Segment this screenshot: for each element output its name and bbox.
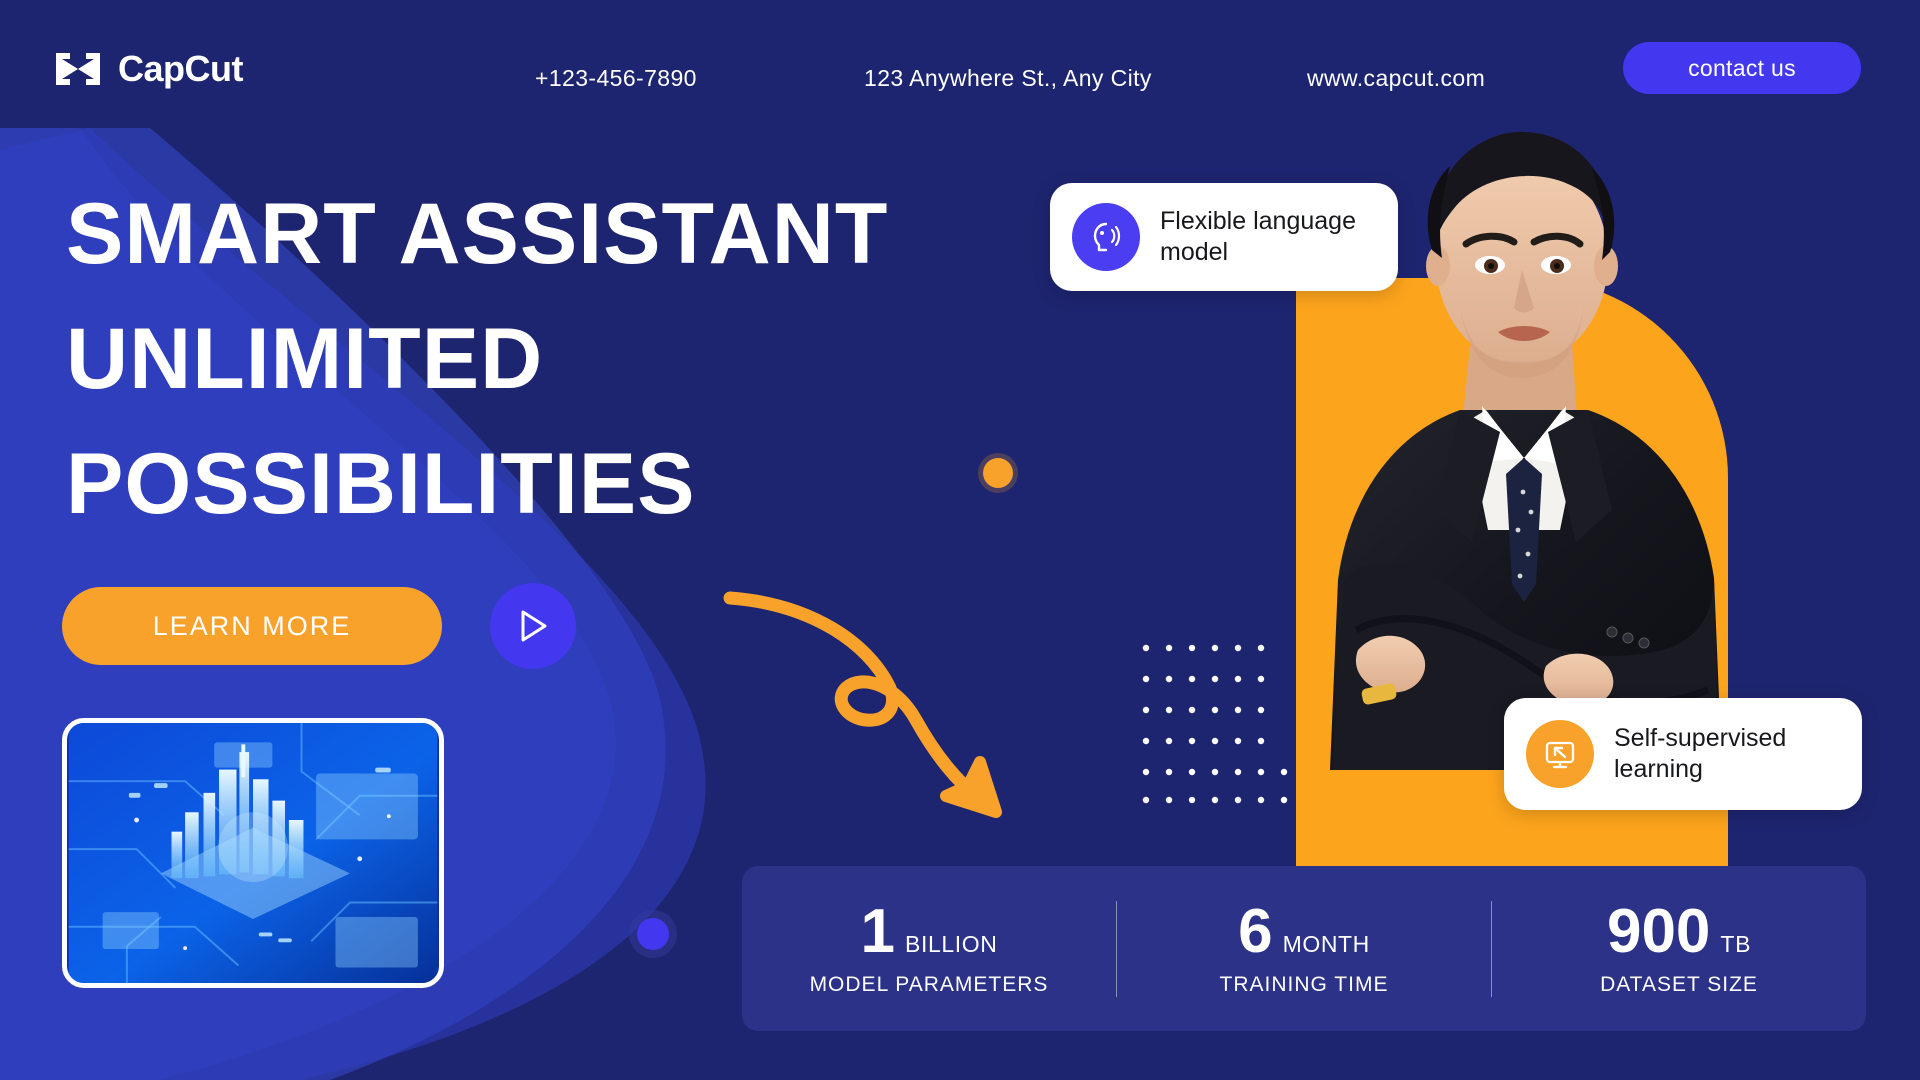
capcut-logo-icon [52, 49, 104, 89]
headline-line-1: SMART ASSISTANT [66, 172, 888, 297]
contact-us-button[interactable]: contact us [1623, 42, 1861, 94]
badge-label: Self-supervised learning [1614, 723, 1840, 785]
stat-unit: MONTH [1283, 931, 1370, 958]
stat-item: 900 TB DATASET SIZE [1492, 901, 1866, 997]
site-header: CapCut +123-456-7890 123 Anywhere St., A… [0, 0, 1920, 128]
stat-unit: TB [1720, 931, 1751, 958]
badge-self-supervised-learning[interactable]: Self-supervised learning [1504, 698, 1862, 810]
smart-city-circuit-image [67, 723, 439, 983]
header-phone[interactable]: +123-456-7890 [535, 65, 697, 92]
stat-unit: BILLION [905, 931, 997, 958]
curved-arrow-icon [700, 570, 1040, 850]
monitor-arrow-icon [1526, 720, 1594, 788]
stat-value: 6 [1238, 901, 1272, 963]
stat-item: 1 BILLION MODEL PARAMETERS [742, 901, 1116, 997]
cta-row: LEARN MORE [62, 583, 576, 669]
stat-value: 1 [861, 901, 895, 963]
smart-city-thumbnail[interactable] [62, 718, 444, 988]
header-website[interactable]: www.capcut.com [1307, 65, 1485, 92]
headline-line-2: UNLIMITED [66, 297, 888, 422]
play-video-button[interactable] [490, 583, 576, 669]
hero-headline: SMART ASSISTANT UNLIMITED POSSIBILITIES [66, 172, 888, 547]
orange-accent-dot [983, 458, 1013, 488]
brand-name: CapCut [118, 48, 243, 90]
stat-item: 6 MONTH TRAINING TIME [1117, 901, 1491, 997]
stat-value: 900 [1607, 901, 1710, 963]
brand-logo[interactable]: CapCut [52, 48, 243, 90]
badge-label: Flexible language model [1160, 206, 1376, 268]
headline-line-3: POSSIBILITIES [66, 422, 888, 547]
hero-banner: CapCut +123-456-7890 123 Anywhere St., A… [0, 0, 1920, 1080]
stat-label: TRAINING TIME [1220, 973, 1389, 997]
badge-flexible-language-model[interactable]: Flexible language model [1050, 183, 1398, 291]
stat-label: MODEL PARAMETERS [810, 973, 1049, 997]
header-address[interactable]: 123 Anywhere St., Any City [864, 65, 1152, 92]
learn-more-button[interactable]: LEARN MORE [62, 587, 442, 665]
blue-accent-dot [637, 918, 669, 950]
play-triangle-icon [516, 608, 550, 644]
stat-label: DATASET SIZE [1600, 973, 1758, 997]
stats-bar: 1 BILLION MODEL PARAMETERS 6 MONTH TRAIN… [742, 866, 1866, 1031]
speaking-face-icon [1072, 203, 1140, 271]
